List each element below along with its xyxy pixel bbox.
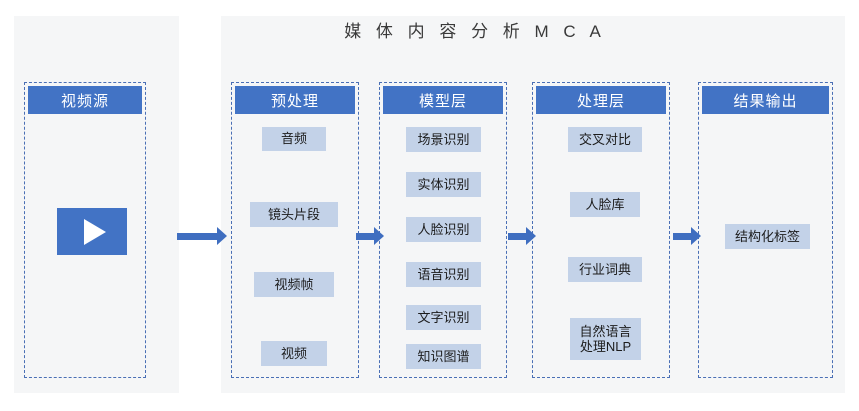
column-header-preprocess: 预处理 <box>235 86 355 114</box>
chip-processing-cross-comparison[interactable]: 交叉对比 <box>568 127 642 152</box>
column-header-video-source: 视频源 <box>28 86 142 114</box>
column-header-result-output: 结果输出 <box>702 86 829 114</box>
chip-model-scene-recognition[interactable]: 场景识别 <box>406 127 481 152</box>
chip-model-speech-recognition[interactable]: 语音识别 <box>406 262 481 287</box>
arrow-model-layer-to-processing-layer <box>508 227 536 245</box>
chip-output-structured-tags[interactable]: 结构化标签 <box>725 224 810 249</box>
arrow-head-icon <box>526 227 536 245</box>
diagram-canvas: 媒 体 内 容 分 析 M C A 视频源 预处理 音频 镜头片段 视频帧 视频… <box>0 0 859 411</box>
chip-preprocess-video-frame[interactable]: 视频帧 <box>254 272 334 297</box>
column-header-processing-layer: 处理层 <box>536 86 666 114</box>
chip-processing-industry-dictionary[interactable]: 行业词典 <box>568 257 642 282</box>
column-header-model-layer: 模型层 <box>383 86 503 114</box>
chip-processing-face-database[interactable]: 人脸库 <box>570 192 640 217</box>
chip-preprocess-audio[interactable]: 音频 <box>262 127 326 151</box>
chip-processing-nlp[interactable]: 自然语言 处理NLP <box>570 318 641 360</box>
chip-model-knowledge-graph[interactable]: 知识图谱 <box>406 344 481 369</box>
arrow-video-source-to-preprocess <box>177 227 227 245</box>
chip-model-text-recognition[interactable]: 文字识别 <box>406 305 481 330</box>
chip-preprocess-shot-segment[interactable]: 镜头片段 <box>250 202 338 227</box>
arrow-preprocess-to-model-layer <box>356 227 384 245</box>
arrow-shaft <box>508 233 526 240</box>
diagram-title: 媒 体 内 容 分 析 M C A <box>330 17 620 42</box>
arrow-head-icon <box>691 227 701 245</box>
arrow-processing-layer-to-result-output <box>673 227 701 245</box>
arrow-shaft <box>356 233 374 240</box>
chip-preprocess-video[interactable]: 视频 <box>261 341 327 366</box>
play-triangle-icon <box>84 219 106 245</box>
arrow-shaft <box>673 233 691 240</box>
arrow-shaft <box>177 233 217 240</box>
chip-model-entity-recognition[interactable]: 实体识别 <box>406 172 481 197</box>
arrow-head-icon <box>217 227 227 245</box>
arrow-head-icon <box>374 227 384 245</box>
play-icon[interactable] <box>57 208 127 255</box>
chip-model-face-recognition[interactable]: 人脸识别 <box>406 217 481 242</box>
